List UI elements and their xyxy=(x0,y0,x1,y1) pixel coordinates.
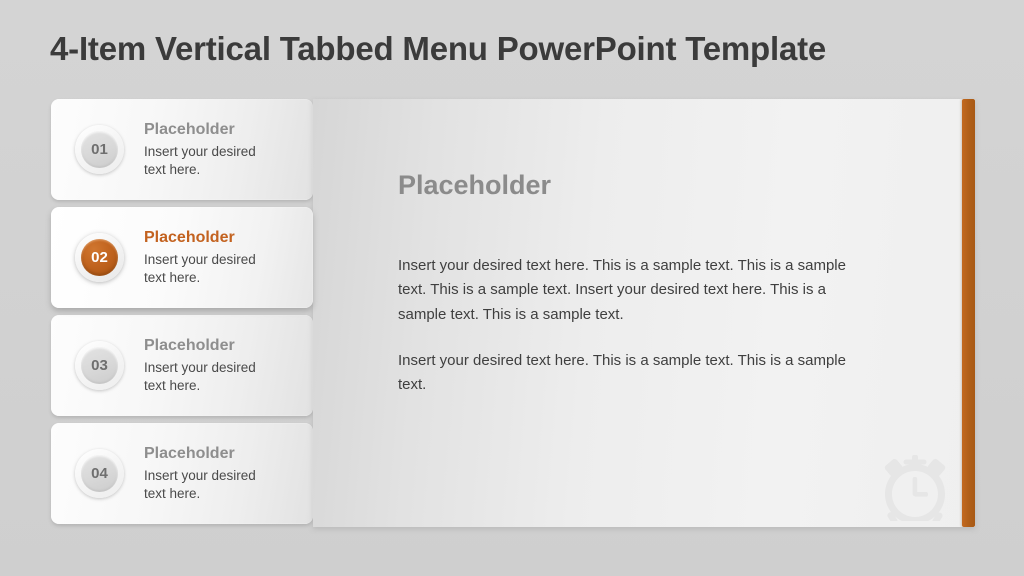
content-paragraph-1: Insert your desired text here. This is a… xyxy=(398,254,876,327)
tab-number-02: 02 xyxy=(81,239,118,276)
page-title: 4-Item Vertical Tabbed Menu PowerPoint T… xyxy=(50,30,826,68)
tab-item-02[interactable]: 02 Placeholder Insert your desired text … xyxy=(51,207,313,308)
tab-heading-01: Placeholder xyxy=(144,120,305,140)
tab-text-block-01: Placeholder Insert your desired text her… xyxy=(144,120,305,179)
alarm-clock-icon xyxy=(878,451,952,521)
tab-number-03: 03 xyxy=(81,347,118,384)
slide-canvas: 4-Item Vertical Tabbed Menu PowerPoint T… xyxy=(0,0,1024,576)
tab-heading-04: Placeholder xyxy=(144,444,305,464)
tab-number-badge-02: 02 xyxy=(75,233,124,282)
tab-number-badge-01: 01 xyxy=(75,125,124,174)
tab-text-block-04: Placeholder Insert your desired text her… xyxy=(144,444,305,503)
tab-heading-02: Placeholder xyxy=(144,228,305,248)
content-paragraph-2: Insert your desired text here. This is a… xyxy=(398,349,876,398)
tab-heading-03: Placeholder xyxy=(144,336,305,356)
tab-text-block-03: Placeholder Insert your desired text her… xyxy=(144,336,305,395)
tab-number-01: 01 xyxy=(81,131,118,168)
tab-number-badge-04: 04 xyxy=(75,449,124,498)
tab-item-04[interactable]: 04 Placeholder Insert your desired text … xyxy=(51,423,313,524)
accent-bar xyxy=(962,99,975,527)
tab-text-block-02: Placeholder Insert your desired text her… xyxy=(144,228,305,287)
tab-subtext-03: Insert your desired text here. xyxy=(144,359,272,395)
content-body: Insert your desired text here. This is a… xyxy=(398,254,876,397)
tab-subtext-02: Insert your desired text here. xyxy=(144,251,272,287)
tab-subtext-01: Insert your desired text here. xyxy=(144,143,272,179)
tab-number-04: 04 xyxy=(81,455,118,492)
tab-item-03[interactable]: 03 Placeholder Insert your desired text … xyxy=(51,315,313,416)
content-heading: Placeholder xyxy=(398,170,551,201)
tab-item-01[interactable]: 01 Placeholder Insert your desired text … xyxy=(51,99,313,200)
tab-number-badge-03: 03 xyxy=(75,341,124,390)
tab-subtext-04: Insert your desired text here. xyxy=(144,467,272,503)
content-panel: Placeholder Insert your desired text her… xyxy=(313,99,975,527)
vertical-tab-menu: 01 Placeholder Insert your desired text … xyxy=(51,99,313,527)
